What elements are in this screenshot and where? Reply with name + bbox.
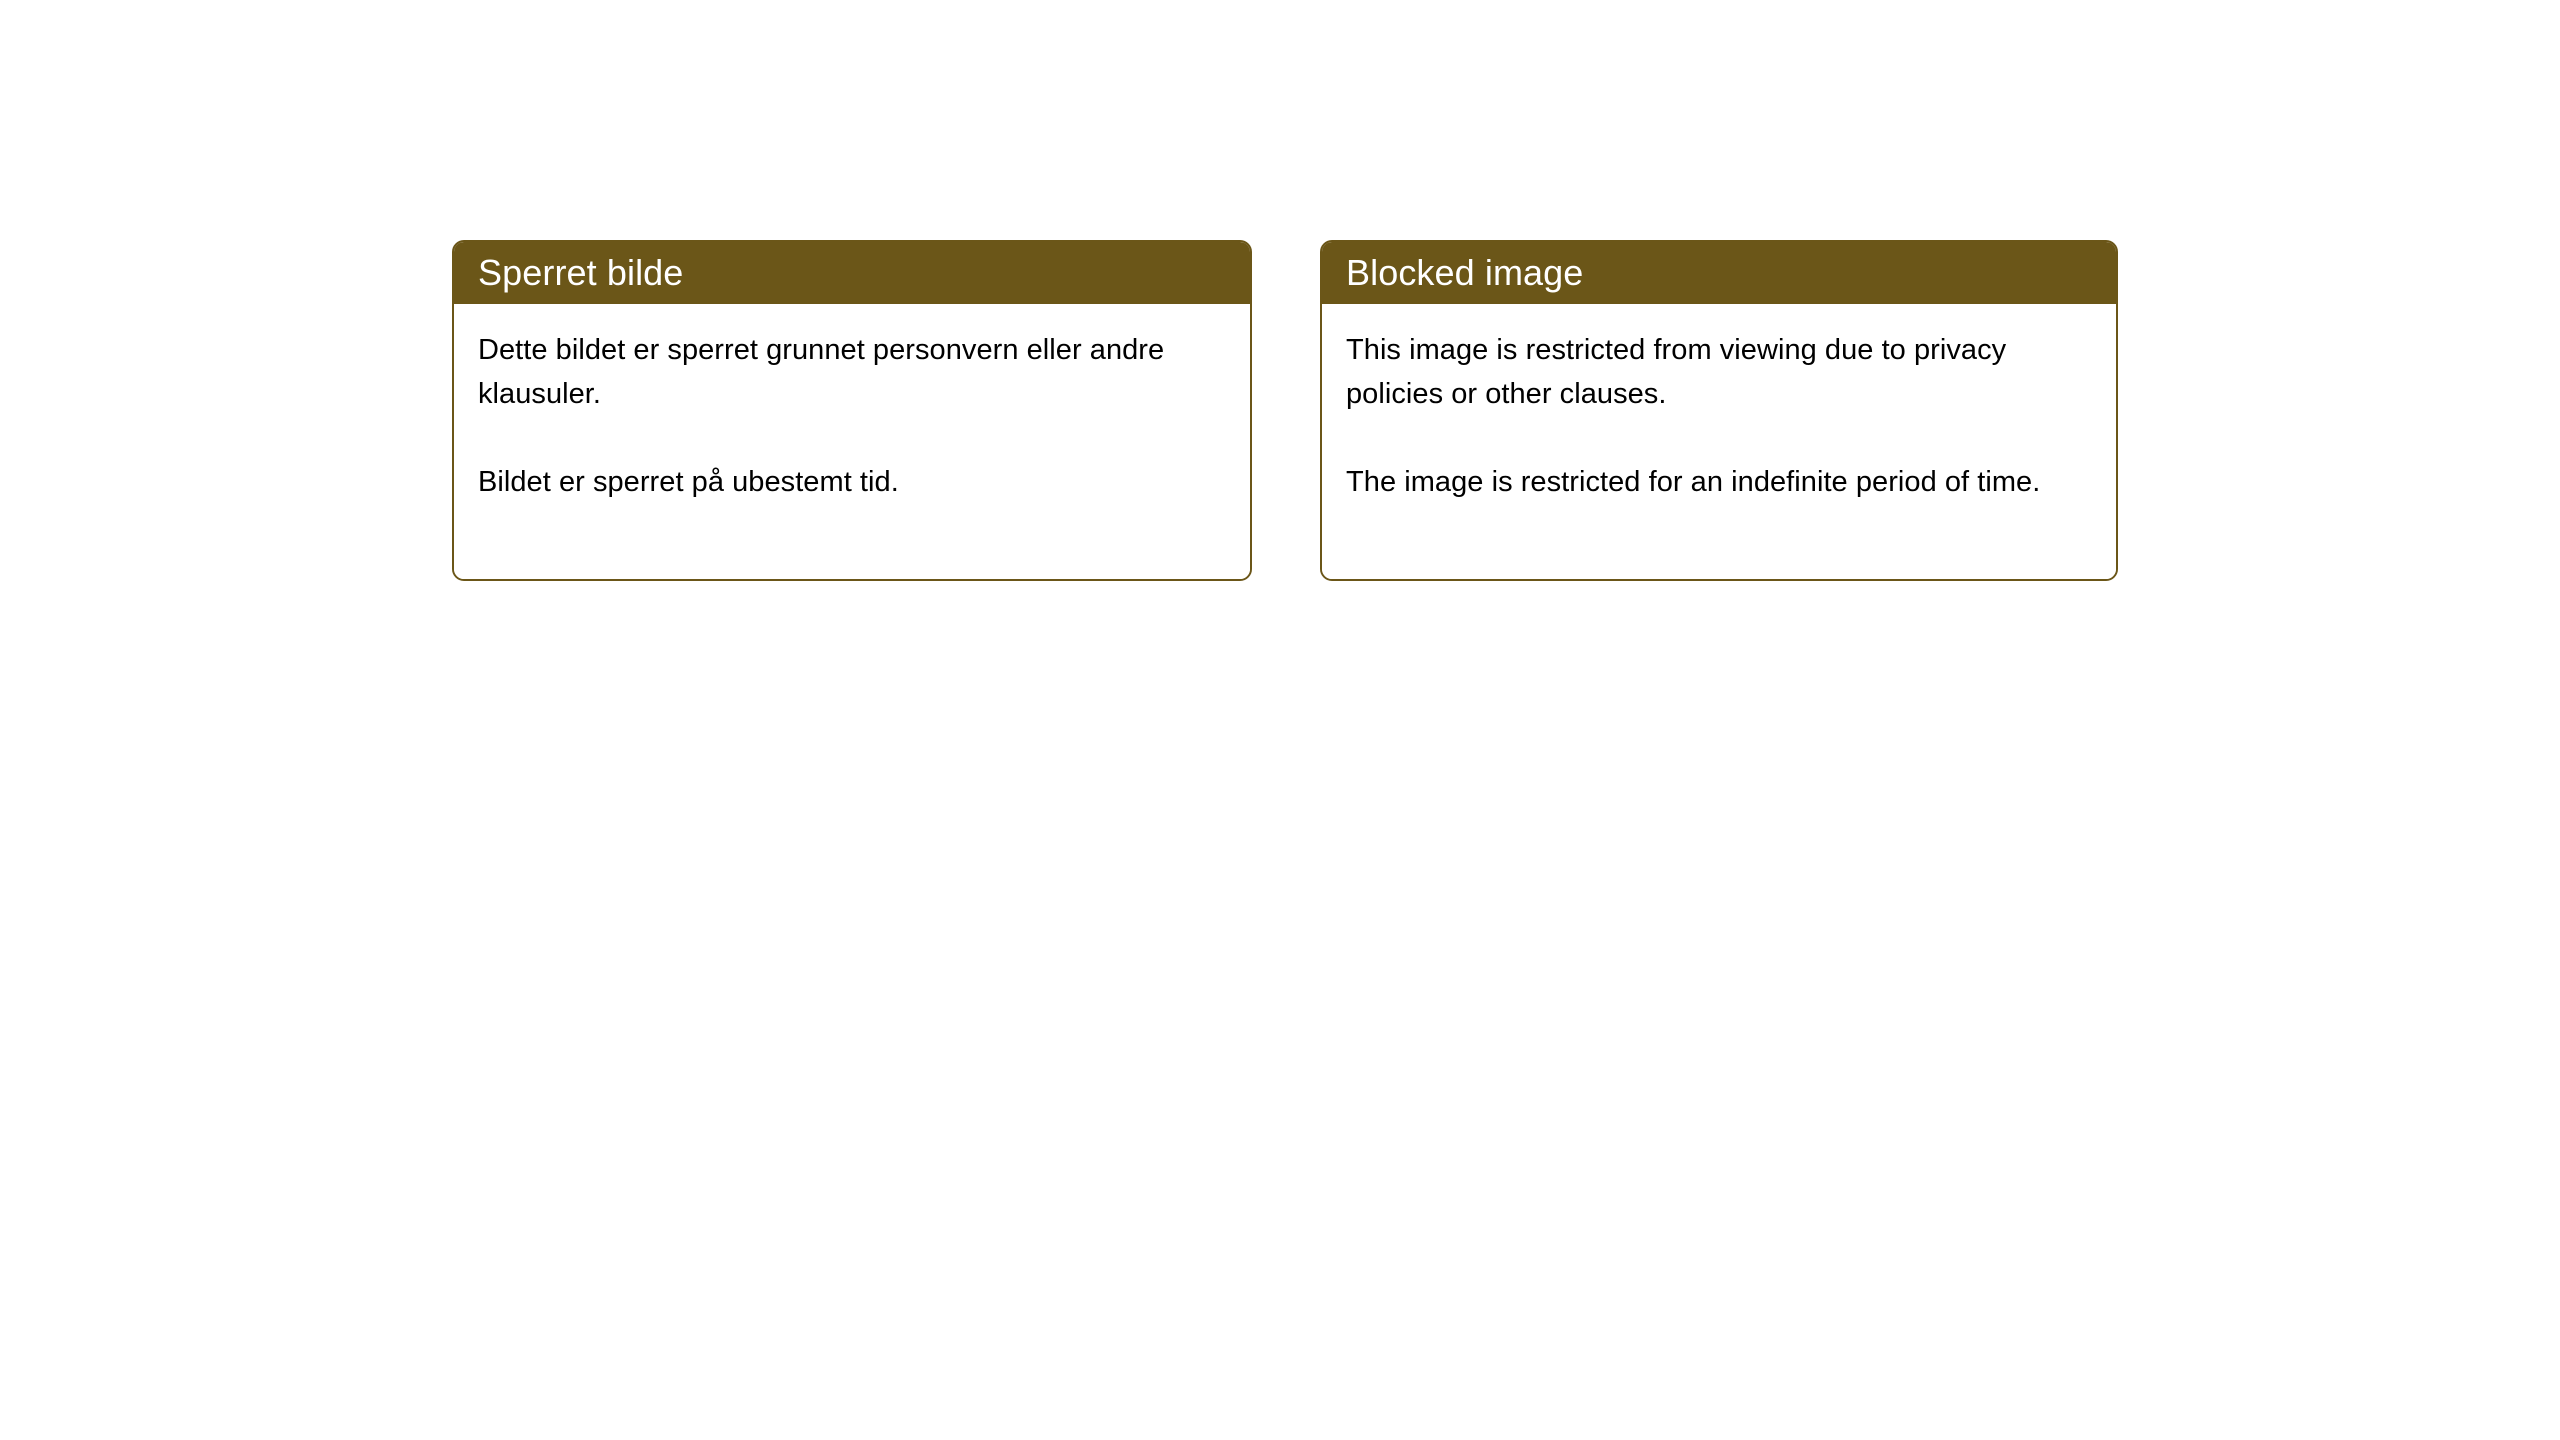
card-title-english: Blocked image <box>1346 253 1583 293</box>
card-title-norwegian: Sperret bilde <box>478 253 683 293</box>
blocked-image-notices: Sperret bilde Dette bildet er sperret gr… <box>452 240 2118 581</box>
card-paragraph-secondary-english: The image is restricted for an indefinit… <box>1346 460 2094 504</box>
card-paragraph-secondary-norwegian: Bildet er sperret på ubestemt tid. <box>478 460 1228 504</box>
card-paragraph-primary-norwegian: Dette bildet er sperret grunnet personve… <box>478 328 1228 416</box>
blocked-image-card-norwegian: Sperret bilde Dette bildet er sperret gr… <box>452 240 1252 581</box>
card-body-english: This image is restricted from viewing du… <box>1322 304 2116 579</box>
card-header-english: Blocked image <box>1322 242 2116 304</box>
card-body-norwegian: Dette bildet er sperret grunnet personve… <box>454 304 1250 579</box>
card-header-norwegian: Sperret bilde <box>454 242 1250 304</box>
blocked-image-card-english: Blocked image This image is restricted f… <box>1320 240 2118 581</box>
card-paragraph-primary-english: This image is restricted from viewing du… <box>1346 328 2094 416</box>
